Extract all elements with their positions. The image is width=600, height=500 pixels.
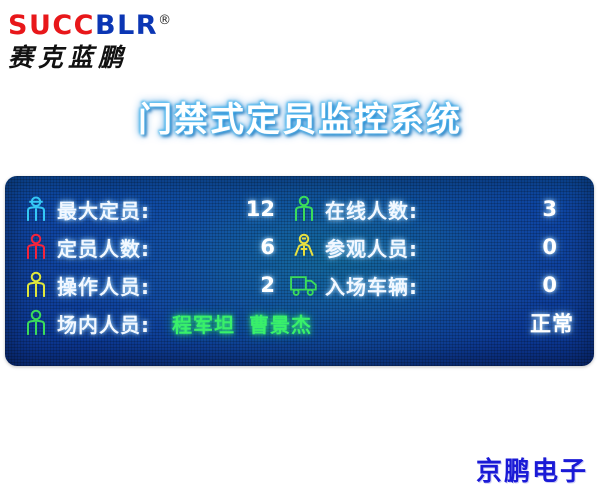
led-row: 定员人数: 6 参观人员: 0 [21, 228, 578, 266]
footer-brand-text: 京鹏电子 [476, 451, 588, 488]
led-field-vehicle-count: 入场车辆: 0 [289, 266, 561, 304]
led-field-online-count: 在线人数: 3 [289, 190, 561, 228]
visitor-person-icon [289, 232, 319, 262]
led-label: 操作人员: [57, 271, 150, 300]
led-value: 12 [246, 197, 289, 221]
led-field-onsite-personnel: 场内人员: 程军坦曹景杰 正常 [21, 304, 578, 342]
worker-with-cap-icon [21, 194, 51, 224]
person-icon [21, 270, 51, 300]
led-value: 0 [542, 235, 561, 259]
led-label: 场内人员: [57, 309, 150, 338]
onsite-name: 程军坦 [172, 313, 235, 337]
status-badge: 正常 [530, 308, 578, 338]
led-value: 2 [260, 273, 289, 297]
logo-chinese-text: 赛克蓝鹏 [8, 43, 238, 73]
led-label: 定员人数: [57, 233, 150, 262]
led-row: 最大定员: 12 在线人数: 3 [21, 190, 578, 228]
logo-blr-text: BLR [95, 10, 158, 41]
led-content-grid: 最大定员: 12 在线人数: 3 [5, 176, 594, 366]
page-title: 门禁式定员监控系统 [0, 92, 600, 141]
led-row-onsite: 场内人员: 程军坦曹景杰 正常 [21, 304, 578, 342]
person-icon [289, 194, 319, 224]
company-logo: SUCCBLR® 赛克蓝鹏 [8, 6, 238, 72]
person-icon [21, 308, 51, 338]
onsite-name-list: 程军坦曹景杰 [172, 309, 326, 338]
led-value: 3 [542, 197, 561, 221]
onsite-name: 曹景杰 [249, 313, 312, 337]
logo-latin-text: SUCCBLR® [8, 6, 238, 41]
registered-trademark-icon: ® [158, 13, 171, 28]
led-label: 参观人员: [325, 233, 418, 262]
led-field-visitor-count: 参观人员: 0 [289, 228, 561, 266]
logo-succ-text: SUCC [8, 10, 95, 41]
led-label: 在线人数: [325, 195, 418, 224]
led-field-operator-count: 操作人员: 2 [21, 266, 289, 304]
led-label: 最大定员: [57, 195, 150, 224]
led-display-panel: 最大定员: 12 在线人数: 3 [5, 176, 594, 366]
person-icon [21, 232, 51, 262]
led-field-quota-count: 定员人数: 6 [21, 228, 289, 266]
led-value: 6 [260, 235, 289, 259]
truck-icon [289, 270, 319, 300]
led-row: 操作人员: 2 入场车辆: 0 [21, 266, 578, 304]
led-label: 入场车辆: [325, 271, 418, 300]
led-field-max-capacity: 最大定员: 12 [21, 190, 289, 228]
led-value: 0 [542, 273, 561, 297]
